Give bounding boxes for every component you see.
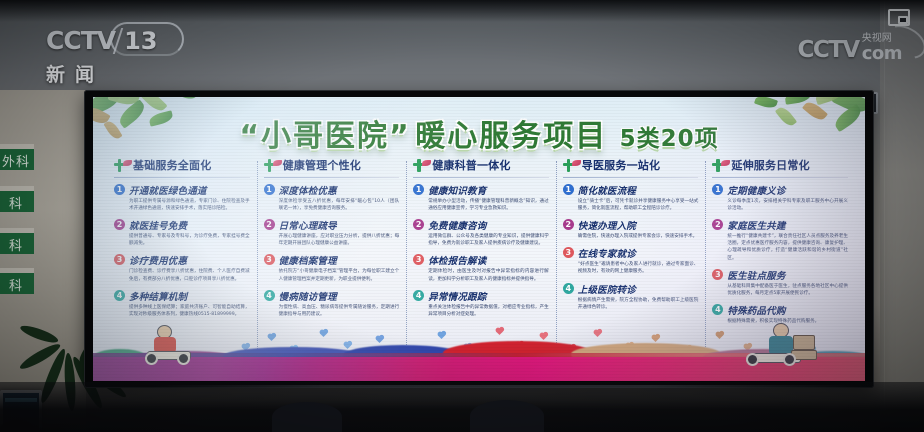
dept-sign: 科 [0,228,34,254]
column-title: 导医服务一站化 [582,157,660,173]
medical-cross-icon [413,159,428,172]
service-item: 3在线专家就诊 “好点医生”邀请患者中心及家人进行就诊，通过专家面诊、视频及时，… [563,246,699,275]
poster-title-quoted: “小哥医院” [239,111,410,155]
item-number: 4 [563,283,574,294]
item-title: 体检报告解读 [428,253,486,267]
item-body: 定期体检时，由医生及时对报告中异常指标的内容进行解读，更加科学分析职工及家人的健… [413,268,549,282]
top-gradient [0,0,924,22]
item-title: 诊疗费用优惠 [129,253,187,267]
item-body: 从基础科目集中配备医于医生，驻点服务各地社区中心提供优质化服务，每月定点5家开展… [712,283,848,297]
service-item: 4异常情况跟踪 重点关注体检报告中的异常数据值，对相应专业指标，产生异常项目分析… [413,289,549,318]
item-title: 慢病随访管理 [279,289,337,303]
item-number: 4 [413,290,424,301]
item-body: 常规举办小型活动，传播“健康管理科普新概念”知识，通过通俗应用健康宣传，学习专业… [413,198,549,212]
item-number: 3 [413,254,424,265]
item-title: 日常心理疏导 [279,218,337,232]
service-item: 3健康档案管理 依托院方“小哥健康电子档案”管理平台，为每位职工建立个人健康管理… [264,253,400,282]
item-title: 简化就医流程 [578,183,636,197]
column-header: 延伸服务日常化 [712,157,848,173]
poster-illustration [93,321,865,381]
item-title: 深度体检优惠 [279,183,337,197]
service-column-health-education: 健康科普一体化 1健康知识教育 常规举办小型活动，传播“健康管理科普新概念”知识… [406,157,556,339]
item-body: 设立“骑士卡”后，可凭卡就诊并享健康服务中心享受一站式服务，简化就医流程，帮助职… [563,198,699,212]
poster-title-count: 5类20项 [620,119,719,153]
column-divider [563,177,699,178]
medical-cross-icon [114,159,129,172]
item-number: 1 [264,184,275,195]
item-title: 定期健康义诊 [727,183,785,197]
item-number: 2 [563,219,574,230]
led-display-screen: “小哥医院” 暖心服务项目 5类20项 基础服务全面化 1开通就医绿 [93,97,865,381]
item-body: 依托院方“小哥健康电子档案”管理平台，为每位职工建立个人健康管理档案并定期更新，… [264,268,400,282]
channel-bug: CCTV 13 新闻 [46,26,158,87]
service-item: 2免费健康咨询 运用微信群、公众号及各类健康的专业知识，提供健康科学指导，免费为… [413,218,549,247]
health-service-poster: “小哥医院” 暖心服务项目 5类20项 基础服务全面化 1开通就医绿 [93,97,865,381]
item-body: “好点医生”邀请患者中心及家人进行就诊，通过专家面诊、视频及时，有效的网上健康服… [563,261,699,275]
item-body: 为职工提供专属号源和绿色通道，专家门诊、住院检查及手术开通绿色通道，快速安排手术… [114,198,250,212]
column-title: 健康管理个性化 [283,157,361,173]
poster-title-main: 暖心服务项目 [415,111,607,155]
service-item: 2日常心理疏导 开展心理健康讲座，应对职业压力分析，提供八折优惠；每年定期开展团… [264,218,400,247]
service-columns: 基础服务全面化 1开通就医绿色通道 为职工提供专属号源和绿色通道，专家门诊、住院… [107,157,855,339]
service-column-basic: 基础服务全面化 1开通就医绿色通道 为职工提供专属号源和绿色通道，专家门诊、住院… [107,157,257,339]
item-body: 确需住院，快速办理入院或提供专家会诊，快速安排手术。 [563,233,699,240]
foreground-shadow [0,382,924,432]
column-header: 导医服务一站化 [563,157,699,173]
column-header: 健康管理个性化 [264,157,400,173]
item-title: 在线专家就诊 [578,246,636,260]
audience-head [470,400,544,432]
cctv-com-watermark: CCTV 央视网 com [797,34,902,63]
item-title: 免费健康咨询 [428,218,486,232]
service-item: 2快速办理入院 确需住院，快速办理入院或提供专家会诊，快速安排手术。 [563,218,699,240]
column-divider [264,177,400,178]
broadcast-frame: 外科 科 科 科 [0,0,924,432]
column-divider [712,177,848,178]
item-body: 为慢性病、高血压、糖尿病等提供专属随访服务，定期进行健康指导与用药建议。 [264,304,400,318]
service-item: 1深度体检优惠 深度体检享受五八折优惠，每年安排“暖心包”10人（团队联诺一体）… [264,183,400,212]
column-divider [114,177,250,178]
channel-logo-row: CCTV 13 [46,26,158,55]
item-title: 异常情况跟踪 [428,289,486,303]
service-item: 4慢病随访管理 为慢性病、高血压、糖尿病等提供专属随访服务，定期进行健康指导与用… [264,289,400,318]
scooter-rider-right [741,323,821,369]
service-column-guidance: 导医服务一站化 1简化就医流程 设立“骑士卡”后，可凭卡就诊并享健康服务中心享受… [556,157,706,339]
poster-title: “小哥医院” 暖心服务项目 5类20项 [93,111,865,155]
item-number: 1 [114,184,125,195]
audience-head [272,402,342,432]
service-item: 1开通就医绿色通道 为职工提供专属号源和绿色通道，专家门诊、住院检查及手术开通绿… [114,183,250,212]
dept-sign: 科 [0,268,34,294]
item-number: 1 [563,184,574,195]
item-number: 4 [264,290,275,301]
medical-cross-icon [712,159,727,172]
service-item: 1健康知识教育 常规举办小型活动，传播“健康管理科普新概念”知识，通过通俗应用健… [413,183,549,212]
item-body: 统一推行“健康共建卡”，联合责任社区人员点服务及养老生活圈，定点优惠医疗服务内容… [712,233,848,261]
item-number: 2 [712,219,723,230]
item-body: 义诊每季度1次，安排相关学科专家及职工服务中心开展义诊活动。 [712,198,848,212]
item-number: 3 [114,254,125,265]
service-item: 3医生驻点服务 从基础科目集中配备医于医生，驻点服务各地社区中心提供优质化服务，… [712,268,848,297]
item-number: 4 [114,290,125,301]
item-body: 重点关注体检报告中的异常数据值，对相应专业指标，产生异常项目分析对症处理。 [413,304,549,318]
column-title: 延伸服务日常化 [731,157,809,173]
item-title: 开通就医绿色通道 [129,183,207,197]
item-body: 开展心理健康讲座，应对职业压力分析，提供八折优惠；每年定期开展团队心理健康公益讲… [264,233,400,247]
column-title: 健康科普一体化 [432,157,510,173]
service-item: 4上级医院转诊 根据病情产生需要，院方全程协助，免费帮助职工上级医院开通绿色转诊… [563,282,699,311]
dept-sign: 科 [0,186,34,212]
dept-sign: 外科 [0,144,34,170]
item-title: 家庭医生共建 [727,218,785,232]
service-item: 2家庭医生共建 统一推行“健康共建卡”，联合责任社区人员点服务及养老生活圈，定点… [712,218,848,261]
column-title: 基础服务全面化 [133,157,211,173]
item-title: 健康档案管理 [279,253,337,267]
service-item: 2就医挂号免费 提供普通号、专家号及专科号，为诊疗免费，专家挂号费全额减免。 [114,218,250,247]
item-number: 3 [712,269,723,280]
column-header: 基础服务全面化 [114,157,250,173]
item-number: 4 [712,304,723,315]
medical-cross-icon [563,159,578,172]
picture-in-picture-icon[interactable] [888,9,910,26]
item-title: 多种结算机制 [129,289,187,303]
logo-arc [110,22,184,56]
item-title: 特殊药品代购 [727,303,785,317]
item-number: 3 [264,254,275,265]
scooter-rider-left [141,325,205,367]
item-number: 1 [712,184,723,195]
item-body: 深度体检享受五八折优惠，每年安排“暖心包”10人（团队联诺一体），享免费健康咨询… [264,198,400,212]
item-number: 2 [413,219,424,230]
item-title: 快速办理入院 [578,218,636,232]
medical-cross-icon [264,159,279,172]
item-title: 健康知识教育 [428,183,486,197]
service-item: 3诊疗费用优惠 门诊检查费、诊疗费享八折优惠，住院费、个人医疗自费减免后，有费部… [114,253,250,282]
column-divider [413,177,549,178]
service-column-health-management: 健康管理个性化 1深度体检优惠 深度体检享受五八折优惠，每年安排“暖心包”10人… [257,157,407,339]
item-number: 2 [264,219,275,230]
item-title: 上级医院转诊 [578,282,636,296]
service-item: 1简化就医流程 设立“骑士卡”后，可凭卡就诊并享健康服务中心享受一站式服务，简化… [563,183,699,212]
column-header: 健康科普一体化 [413,157,549,173]
item-body: 提供普通号、专家号及专科号，为诊疗免费，专家挂号费全额减免。 [114,233,250,247]
led-display-bezel: “小哥医院” 暖心服务项目 5类20项 基础服务全面化 1开通就医绿 [84,90,874,388]
channel-name: 新闻 [46,60,158,87]
cctv-logo-text: CCTV [46,26,115,55]
service-item: 4多种结算机制 提供多种线上医保结算；家庭共济账户、可智能自助结算，实现对秒级服… [114,289,250,318]
item-number: 3 [563,247,574,258]
item-body: 运用微信群、公众号及各类健康的专业知识，提供健康科学指导，免费为就诊职工及家人提… [413,233,549,247]
service-item: 1定期健康义诊 义诊每季度1次，安排相关学科专家及职工服务中心开展义诊活动。 [712,183,848,212]
item-title: 就医挂号免费 [129,218,187,232]
watermark-cctv-text: CCTV [797,37,858,63]
item-title: 医生驻点服务 [727,268,785,282]
wall-right-panel [880,0,924,432]
service-column-extended: 延伸服务日常化 1定期健康义诊 义诊每季度1次，安排相关学科专家及职工服务中心开… [705,157,855,339]
item-number: 1 [413,184,424,195]
item-number: 2 [114,219,125,230]
item-body: 提供多种线上医保结算；家庭共济账户、可智能自助结算，实现对秒级服务体系列，健康热… [114,304,250,318]
item-body: 根据病情产生需要，院方全程协助，免费帮助职工上级医院开通绿色转诊。 [563,297,699,311]
item-body: 门诊检查费、诊疗费享八折优惠，住院费、个人医疗自费减免后，有费部分八折优惠，口腔… [114,268,250,282]
service-item: 3体检报告解读 定期体检时，由医生及时对报告中异常指标的内容进行解读，更加科学分… [413,253,549,282]
wall-seam [884,0,885,432]
